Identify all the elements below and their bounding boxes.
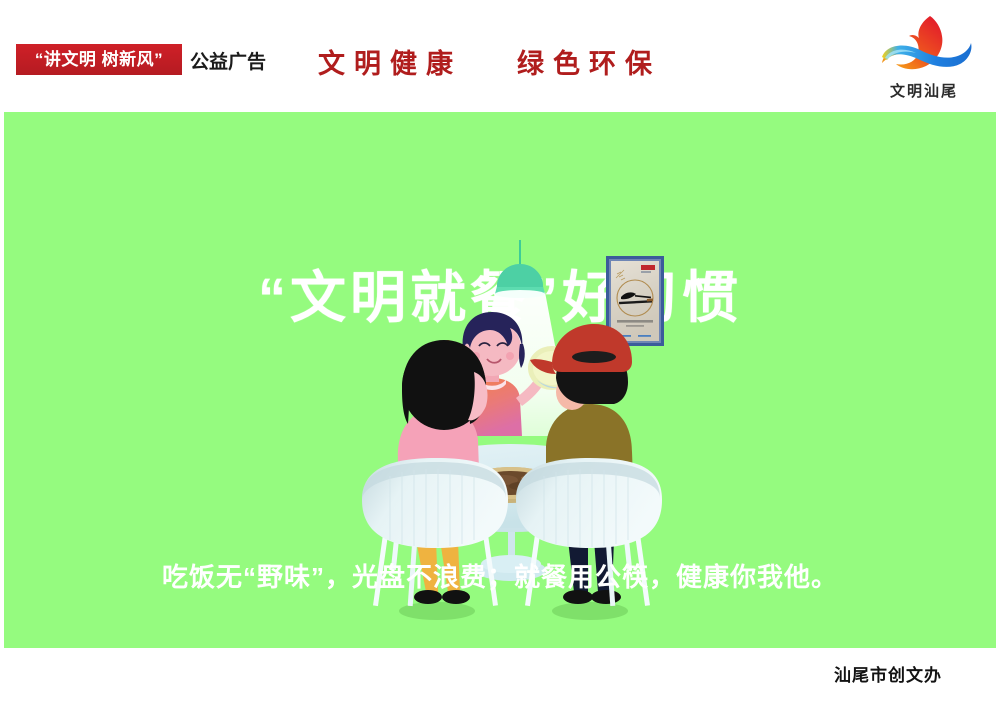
header-slogan-left: 文明健康: [318, 49, 462, 79]
public-service-poster: “讲文明 树新风” 公益广告 文明健康 绿色环保: [0, 0, 1000, 708]
poster-body: “文明就餐”好习惯: [4, 112, 996, 648]
poster-header: “讲文明 树新风” 公益广告 文明健康 绿色环保: [0, 0, 1000, 112]
campaign-badge-label: “讲文明 树新风”: [35, 51, 163, 68]
header-slogan: 文明健康 绿色环保: [318, 42, 661, 81]
logo-caption: 文明汕尾: [872, 80, 976, 101]
header-slogan-right: 绿色环保: [517, 49, 661, 79]
wenming-shanwei-logo-icon: [872, 14, 976, 76]
campaign-badge: “讲文明 树新风”: [16, 44, 182, 75]
psa-label: 公益广告: [190, 47, 266, 74]
logo-block: 文明汕尾: [872, 14, 976, 104]
sub-slogan: 吃饭无“野味”，光盘不浪费；就餐用公筷，健康你我他。: [4, 564, 996, 590]
issuing-organization: 汕尾市创文办: [834, 661, 942, 686]
floor-shadow: [552, 602, 628, 620]
